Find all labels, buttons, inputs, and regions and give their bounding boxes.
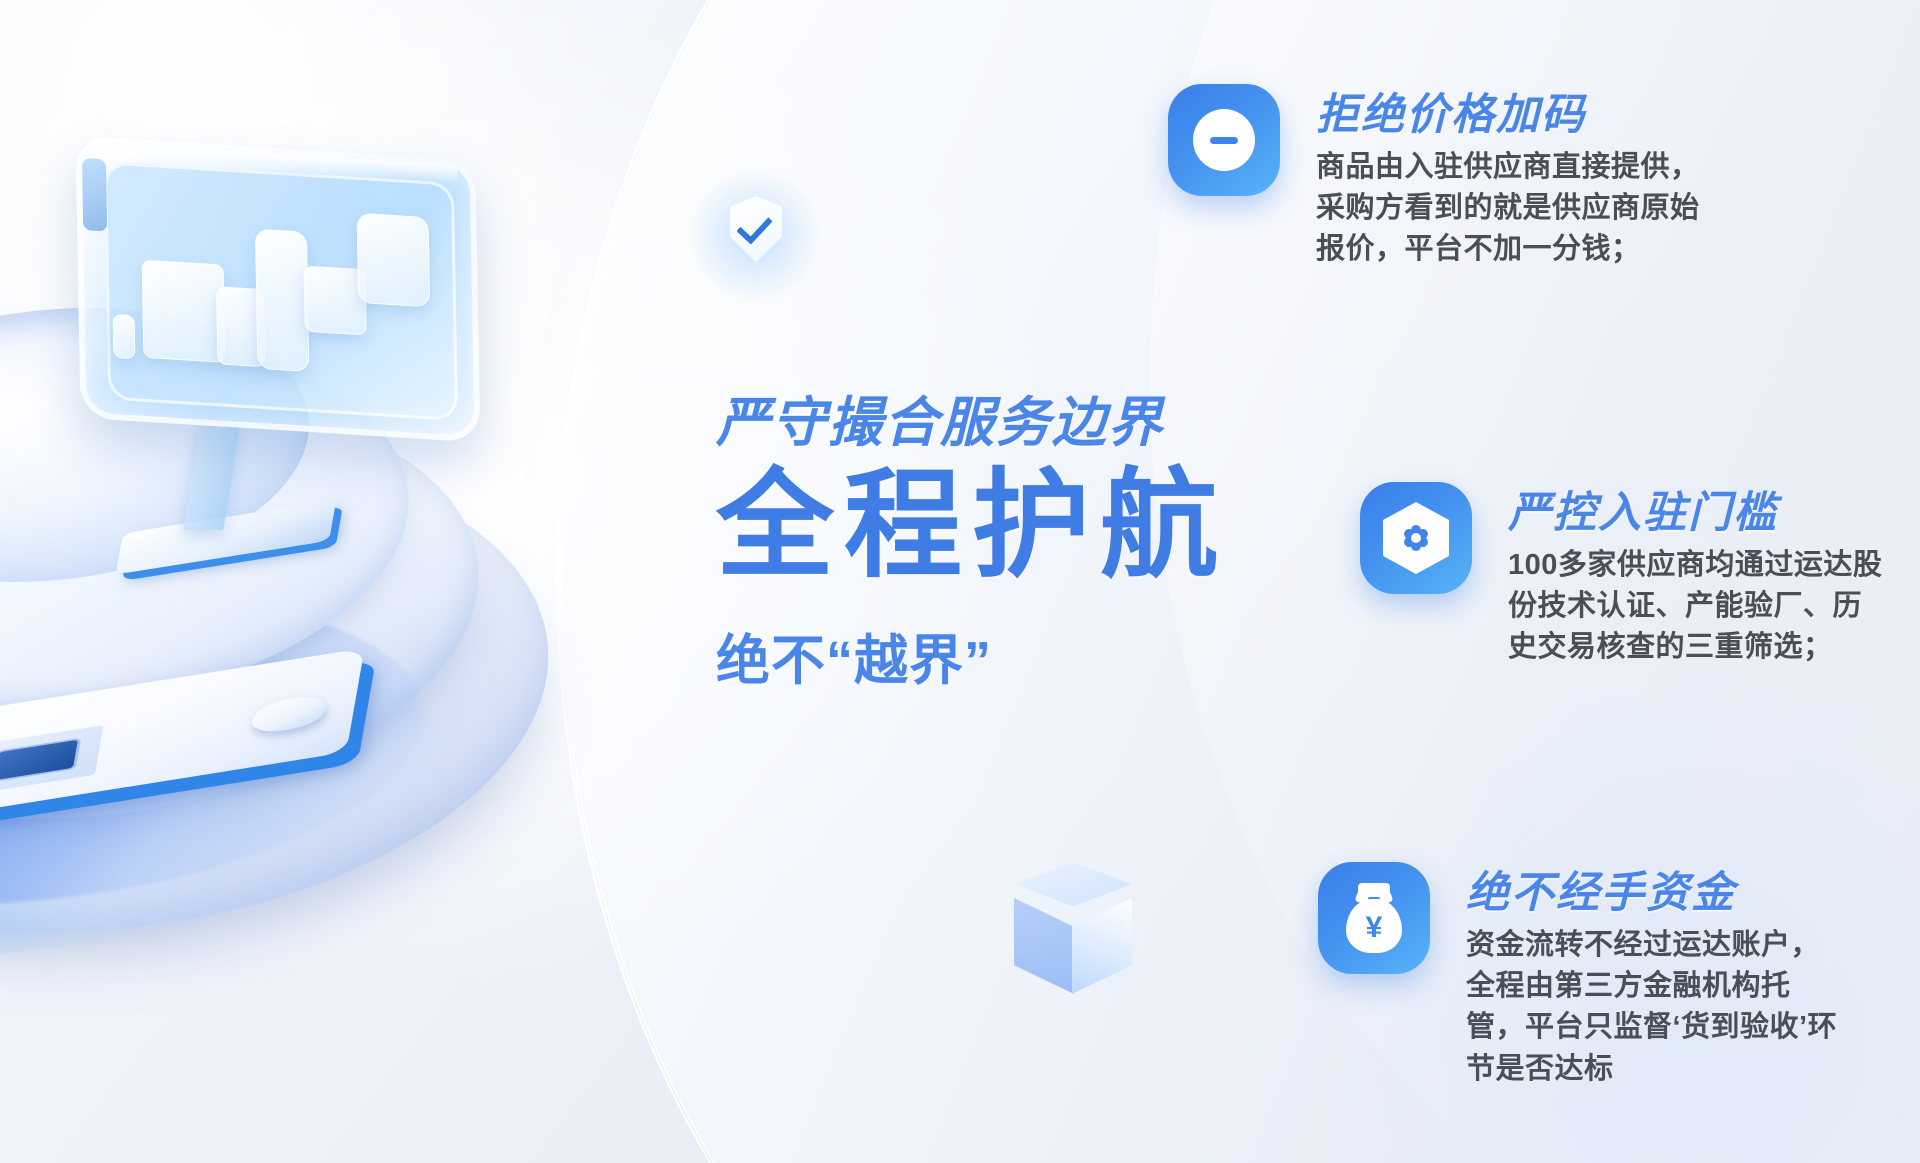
podium-ring-outer <box>0 404 573 975</box>
feature-item-3: ¥ 绝不经手资金 资金流转不经过运达账户，全程由第三方金融机构托管，平台只监督‘… <box>1318 862 1846 1090</box>
screen-block <box>113 314 136 359</box>
hex-gear-icon <box>1360 482 1472 594</box>
poster-canvas: 严守撮合服务边界 全程护航 绝不“越界” 拒绝价格加码 商品由入驻供应商直接提供… <box>0 0 1920 1163</box>
money-bag-neck <box>1358 883 1390 897</box>
feature-title-1: 拒绝价格加码 <box>1316 94 1716 137</box>
money-bag-body: ¥ <box>1346 899 1402 953</box>
monitor-screen <box>104 161 458 421</box>
headline-top-line: 严守撮合服务边界 <box>716 394 1336 452</box>
screen-block <box>357 213 431 308</box>
headline-group: 严守撮合服务边界 全程护航 绝不“越界” <box>716 394 1336 695</box>
mouse-icon <box>250 692 329 735</box>
minus-circle-icon <box>1168 84 1280 196</box>
money-bag-icon: ¥ <box>1318 862 1430 974</box>
cube-face-left <box>1014 898 1074 994</box>
yen-symbol: ¥ <box>1366 913 1383 943</box>
minus-circle-inner <box>1193 109 1255 171</box>
podium-accent-ring-2 <box>0 607 463 993</box>
monitor-stand <box>183 420 240 530</box>
screen-block <box>255 229 309 372</box>
money-bag-shape: ¥ <box>1342 883 1406 953</box>
shield-check-badge <box>690 170 820 300</box>
monitor-sheen <box>76 136 403 443</box>
podium-accent-ring-1 <box>0 560 439 940</box>
glass-monitor-icon <box>76 136 481 443</box>
screen-block <box>142 260 226 363</box>
feature-item-1: 拒绝价格加码 商品由入驻供应商直接提供，采购方看到的就是供应商原始报价，平台不加… <box>1168 84 1716 271</box>
flower-gear-glyph <box>1401 523 1431 553</box>
podium-ring-center <box>0 284 323 607</box>
minus-bar <box>1210 137 1238 144</box>
monitor-top-edge <box>96 143 458 183</box>
feature-item-2: 严控入驻门槛 100多家供应商均通过运达股份技术认证、产能验厂、历史交易核查的三… <box>1360 482 1888 669</box>
check-icon <box>736 208 772 245</box>
headline-sub-line: 绝不“越界” <box>716 616 1336 695</box>
screen-block <box>216 286 265 367</box>
feature-desc-2: 100多家供应商均通过运达股份技术认证、产能验厂、历史交易核查的三重筛选； <box>1508 545 1888 669</box>
hero-illustration <box>0 120 740 1100</box>
podium-ring-inner <box>0 311 427 740</box>
feature-text-3: 绝不经手资金 资金流转不经过运达账户，全程由第三方金融机构托管，平台只监督‘货到… <box>1466 862 1846 1090</box>
feature-text-1: 拒绝价格加码 商品由入驻供应商直接提供，采购方看到的就是供应商原始报价，平台不加… <box>1316 84 1716 271</box>
chip-icon <box>0 724 106 797</box>
podium-ring-middle <box>0 356 500 856</box>
feature-desc-3: 资金流转不经过运达账户，全程由第三方金融机构托管，平台只监督‘货到验收’环节是否… <box>1466 925 1846 1090</box>
feature-title-2: 严控入驻门槛 <box>1508 492 1888 535</box>
podium-group <box>0 300 640 1000</box>
floating-cube-icon <box>1002 862 1152 998</box>
feature-title-3: 绝不经手资金 <box>1466 872 1846 915</box>
keyboard-plate <box>0 648 365 818</box>
screen-block <box>304 266 367 336</box>
cube-face-right <box>1072 898 1132 994</box>
feature-text-2: 严控入驻门槛 100多家供应商均通过运达股份技术认证、产能验厂、历史交易核查的三… <box>1508 482 1888 669</box>
headline-main-line: 全程护航 <box>716 460 1336 592</box>
hexagon-shape <box>1383 502 1449 574</box>
background-glow-top-left <box>0 0 640 500</box>
feature-desc-1: 商品由入驻供应商直接提供，采购方看到的就是供应商原始报价，平台不加一分钱； <box>1316 147 1716 271</box>
monitor-base <box>116 500 337 575</box>
monitor-left-edge <box>82 158 107 232</box>
